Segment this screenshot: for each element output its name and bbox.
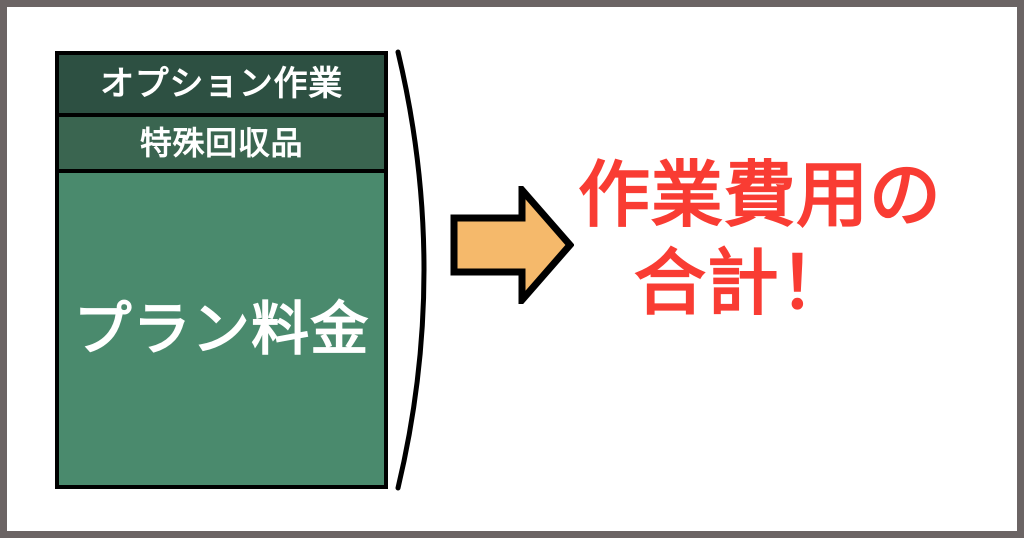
total-cost-headline-line1: 作業費用の [578,152,908,240]
bar-segment-special-collection-item-label: 特殊回収品 [140,127,303,159]
right-arrow-icon [450,186,574,304]
total-cost-headline: 作業費用の 合計！ [578,152,908,328]
cost-breakdown-bar: オプション作業 特殊回収品 プラン料金 [55,51,388,489]
total-cost-headline-line2: 合計！ [578,240,908,328]
bar-segment-special-collection-item: 特殊回収品 [59,117,384,173]
diagram-canvas: オプション作業 特殊回収品 プラン料金 作業費用の 合計！ [0,0,1024,538]
grouping-arc-icon [388,40,458,500]
bar-segment-option-work-label: オプション作業 [100,67,343,101]
bar-segment-plan-fee: プラン料金 [59,173,384,485]
bar-segment-option-work: オプション作業 [59,55,384,117]
bar-segment-plan-fee-label: プラン料金 [74,300,370,358]
